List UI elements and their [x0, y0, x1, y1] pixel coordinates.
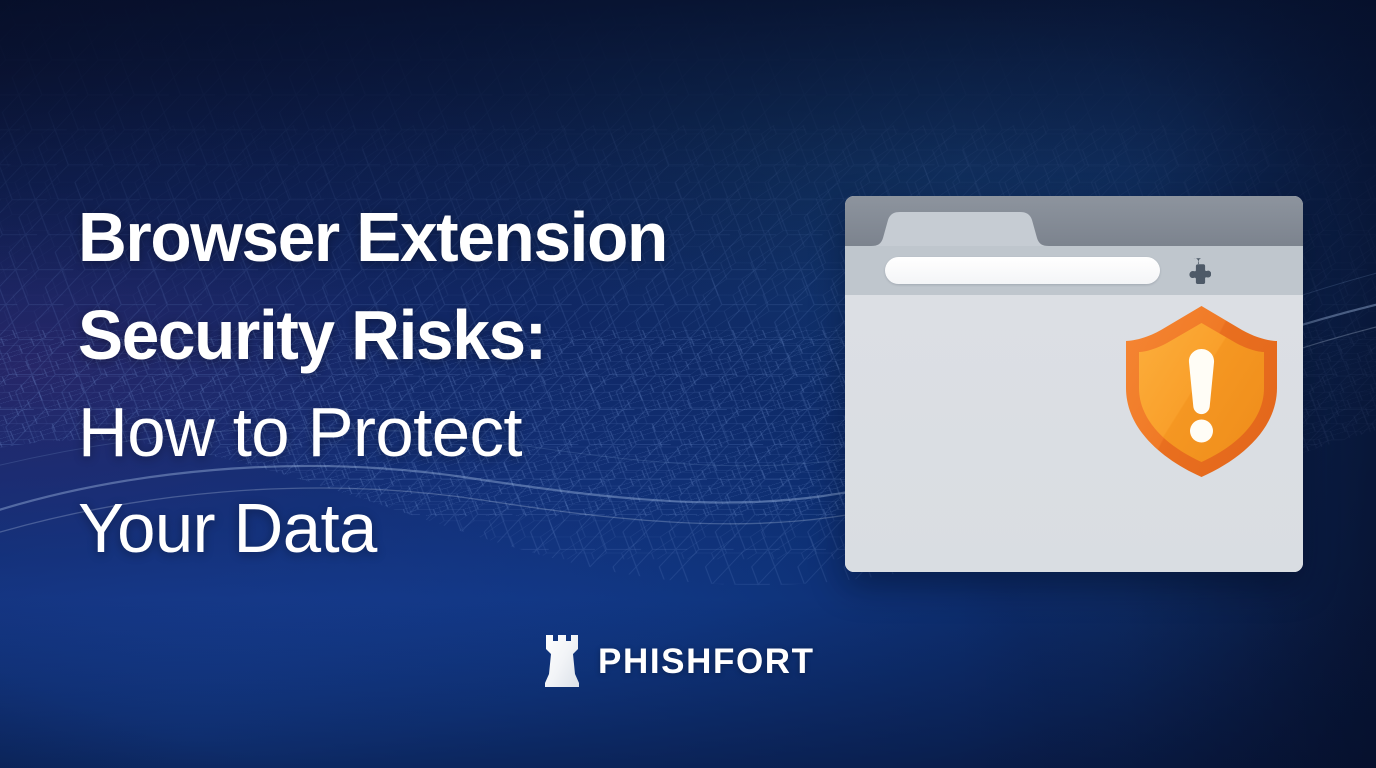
headline-line-3: How to Protect: [78, 384, 827, 480]
browser-tab[interactable]: [871, 212, 1049, 246]
page-title: Browser Extension Security Risks: How to…: [78, 188, 838, 576]
headline-line-1: Browser Extension: [78, 188, 811, 286]
brand-wordmark: PHISHFORT: [598, 644, 815, 679]
rook-tower-icon: [543, 633, 581, 689]
browser-toolbar: [845, 246, 1303, 295]
hero-banner: Browser Extension Security Risks: How to…: [0, 0, 1376, 768]
browser-content-area: [845, 295, 1303, 572]
puzzle-piece-icon[interactable]: [1181, 257, 1211, 285]
browser-window-illustration: [845, 196, 1303, 572]
url-input[interactable]: [885, 257, 1160, 284]
headline-line-2: Security Risks:: [78, 286, 811, 384]
browser-titlebar: [845, 196, 1303, 246]
headline-line-4: Your Data: [78, 480, 827, 576]
shield-warning-icon: [1124, 304, 1279, 479]
brand-logo: PHISHFORT: [543, 633, 815, 689]
